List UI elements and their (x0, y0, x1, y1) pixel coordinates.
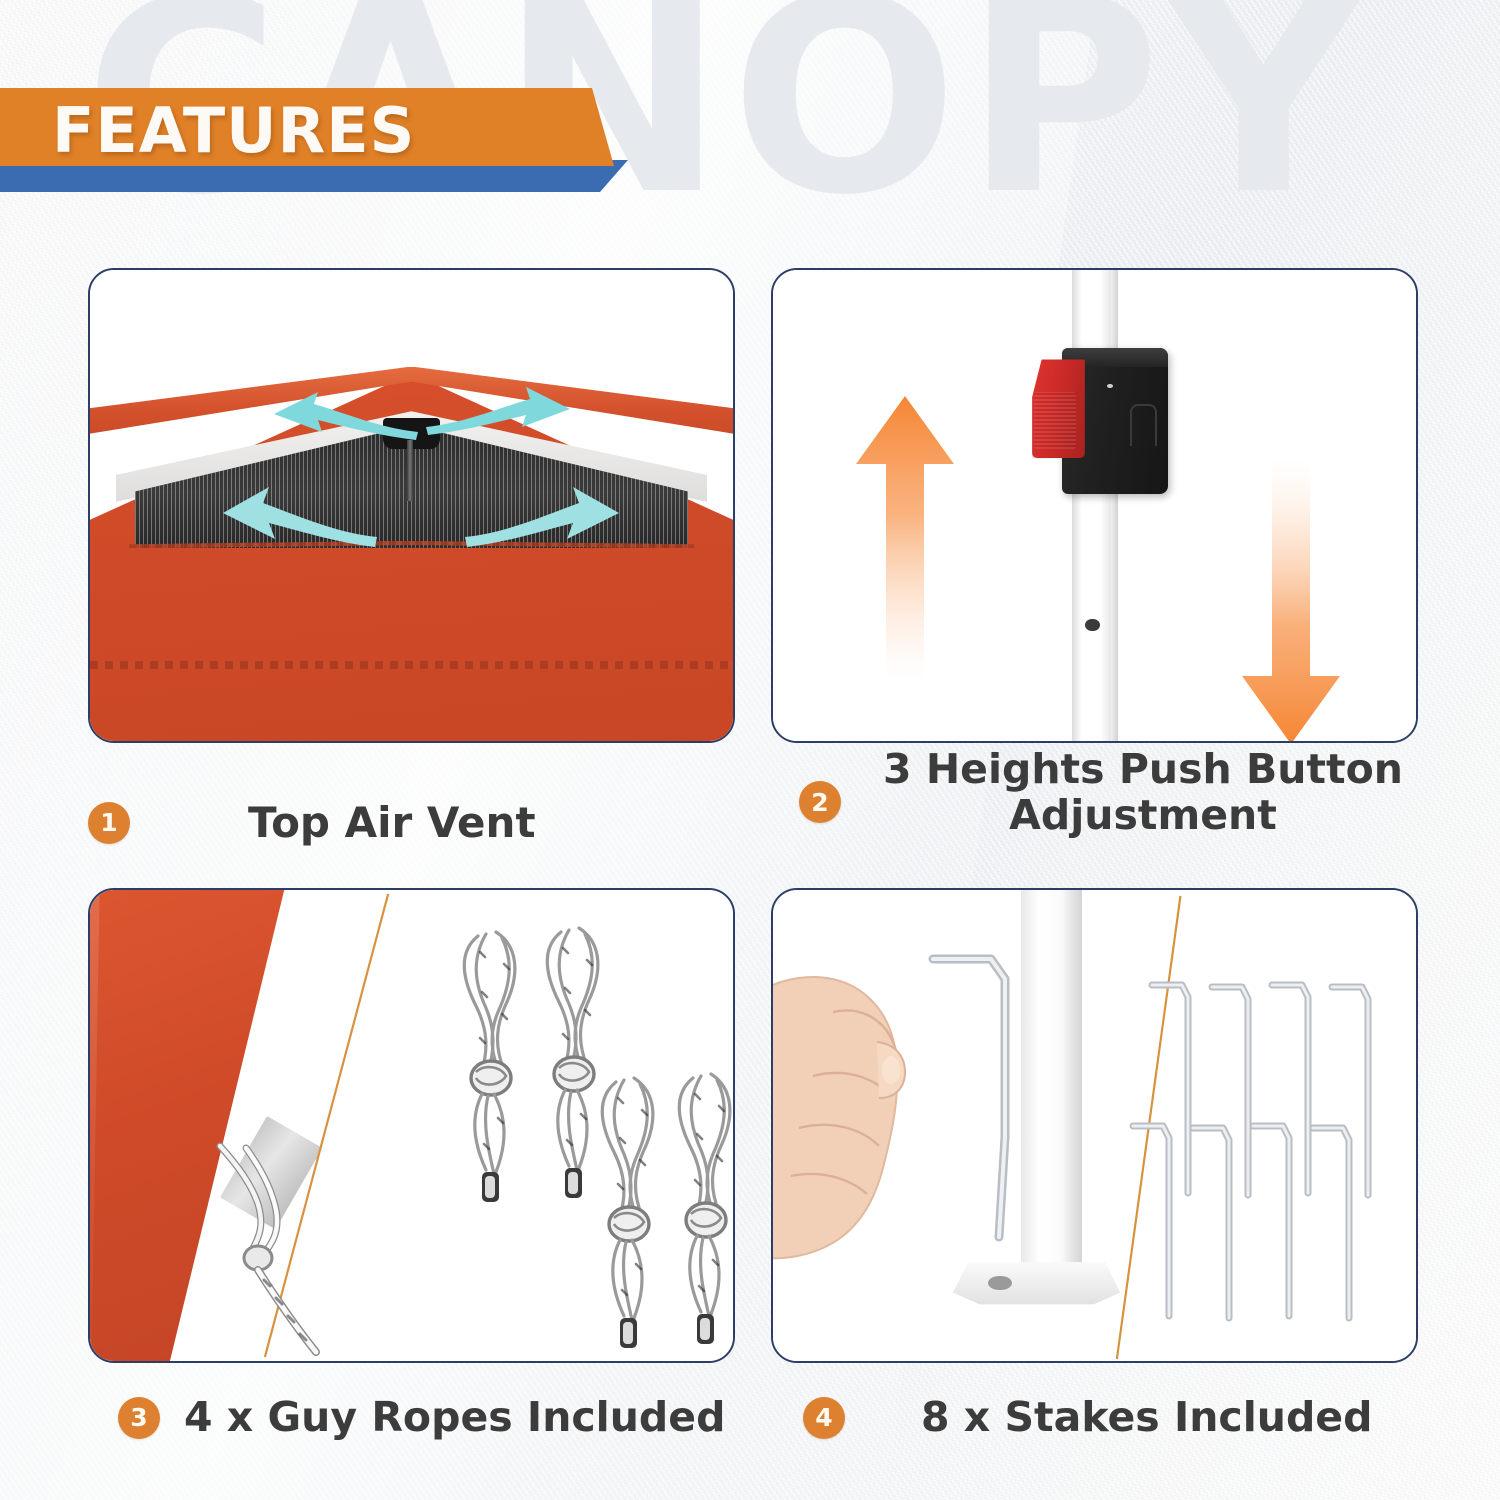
feature-caption-1: 1 Top Air Vent (88, 743, 735, 888)
canopy-leg-edge (1111, 270, 1119, 741)
airflow-arrow-right-lower-icon (463, 477, 623, 557)
coiled-rope-4 (659, 1060, 735, 1360)
down-arrow-icon (1236, 458, 1346, 743)
feature-badge-2: 2 (799, 781, 841, 823)
feature-label-3: 4 x Guy Ropes Included (184, 1395, 725, 1441)
airflow-arrow-right-upper-icon (424, 383, 574, 453)
feature-panel-1 (88, 268, 735, 743)
red-push-button-grip (1034, 392, 1076, 449)
feature-caption-2: 2 3 Heights Push Button Adjustment (771, 743, 1418, 888)
feature-caption-4: 4 8 x Stakes Included (771, 1363, 1418, 1458)
up-arrow-icon (850, 392, 960, 687)
stake-in-hand (921, 937, 1071, 1267)
feature-label-2-line2: Adjustment (883, 793, 1403, 839)
feature-panel-2 (771, 268, 1418, 743)
feature-label-1: Top Air Vent (248, 799, 536, 846)
attached-guy-rope (206, 1140, 446, 1363)
feature-label-4: 8 x Stakes Included (921, 1395, 1372, 1441)
housing-slot (1130, 404, 1157, 446)
feature-badge-4: 4 (803, 1397, 845, 1439)
feature-label-2: 3 Heights Push Button Adjustment (883, 747, 1403, 839)
airflow-arrow-left-lower-icon (219, 477, 379, 557)
stakes-group-lower (1127, 1116, 1397, 1363)
feature-badge-3: 3 (118, 1397, 160, 1439)
airflow-arrow-left-upper-icon (270, 388, 420, 458)
fabric-hem-seam (90, 661, 733, 669)
feature-caption-3: 3 4 x Guy Ropes Included (88, 1363, 735, 1458)
page-background: CANOPY FEATURES (0, 0, 1500, 1500)
leg-adjustment-hole (1085, 619, 1099, 631)
feature-badge-1: 1 (88, 802, 130, 844)
feature-panel-3 (88, 888, 735, 1363)
feature-panel-4 (771, 888, 1418, 1363)
page-title: FEATURES (52, 94, 415, 167)
feature-grid: 1 Top Air Vent 2 3 Heights Push Button A… (88, 268, 1418, 1458)
feature-label-2-line1: 3 Heights Push Button (883, 747, 1403, 793)
features-banner: FEATURES (0, 88, 700, 198)
